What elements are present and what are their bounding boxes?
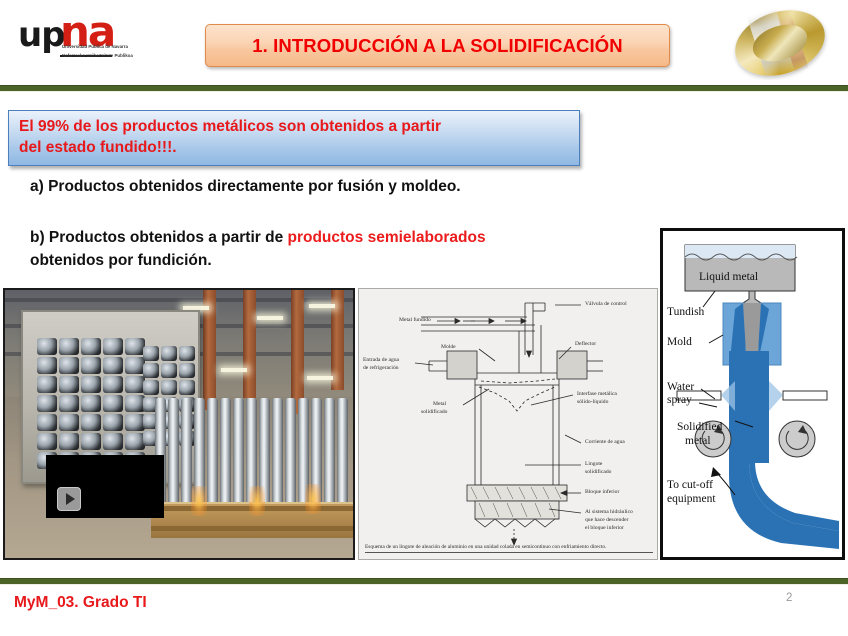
- dr-label-solidified: Solidified: [677, 421, 722, 434]
- callout-line-1: El 99% de los productos metálicos son ob…: [19, 118, 441, 135]
- dc-label-water-inlet-2: de refrigeración: [363, 365, 399, 372]
- dc-label-molten-metal: Metal fundido: [399, 317, 431, 324]
- slide-header: up na Universidad Pública de Navarra Naf…: [0, 0, 848, 86]
- footer-divider: [0, 578, 848, 585]
- highlight-callout-box: El 99% de los productos metálicos son ob…: [8, 110, 580, 166]
- dr-label-mold: Mold: [667, 336, 692, 349]
- dc-caption: Esquema de un lingote de aleación de alu…: [365, 544, 653, 553]
- dc-label-water-inlet: Entrada de agua: [363, 357, 399, 364]
- upna-logo: up na Universidad Pública de Navarra Naf…: [18, 16, 148, 74]
- dc-label-water-stream: Corriente de agua: [585, 439, 625, 446]
- photo-warm-glow: [305, 484, 321, 514]
- logo-text-up: up: [18, 18, 65, 52]
- bullet-item-b: b) Productos obtenidos a partir de produ…: [30, 226, 486, 272]
- gold-ring-photo: [722, 6, 842, 80]
- callout-text: El 99% de los productos metálicos son ob…: [19, 116, 569, 158]
- dc-caption-line2: con enfriamiento directo.: [552, 544, 606, 550]
- photo-support-column: [291, 290, 304, 414]
- dr-label-tundish: Tundish: [667, 306, 704, 319]
- photo-mould-grid-left: [37, 338, 145, 469]
- dc-label-hydraulic: Al sistema hidráulico: [585, 509, 633, 516]
- page-title: 1. INTRODUCCIÓN A LA SOLIDIFICACIÓN: [252, 35, 622, 57]
- dc-label-ingot: Lingote: [585, 461, 602, 468]
- bullet-b-text-part1: b) Productos obtenidos a partir de: [30, 229, 288, 246]
- dr-label-water: Water: [667, 381, 694, 394]
- dr-label-solidified-2: metal: [685, 435, 711, 448]
- slide-title-banner: 1. INTRODUCCIÓN A LA SOLIDIFICACIÓN: [205, 24, 670, 67]
- footer-course-label: MyM_03. Grado TI: [14, 594, 147, 612]
- dc-label-valve: Válvula de control: [585, 301, 627, 308]
- photo-support-column: [243, 290, 256, 398]
- play-triangle-glyph: [66, 493, 75, 505]
- photo-warm-glow: [249, 486, 265, 516]
- bullet-a-text: a) Productos obtenidos directamente por …: [30, 178, 461, 195]
- photo-ceiling-light: [307, 376, 333, 380]
- dr-label-liquid-metal: Liquid metal: [699, 271, 758, 284]
- page-number: 2: [786, 592, 792, 604]
- dc-label-interface: Interfase metálica: [577, 391, 617, 398]
- dc-label-ingot-2: solidificado: [585, 469, 611, 476]
- header-divider: [0, 85, 848, 92]
- play-icon[interactable]: [57, 487, 81, 511]
- dc-label-deflector: Deflector: [575, 341, 596, 348]
- dr-label-water-2: spray: [667, 394, 692, 407]
- photo-ceiling-light: [221, 368, 247, 372]
- dc-label-solid-metal-2: solidificado: [421, 409, 447, 416]
- foundry-photo: [3, 288, 355, 560]
- bullet-b-highlight: productos semielaborados: [288, 229, 486, 246]
- dc-label-solid-metal: Metal: [433, 401, 446, 408]
- dc-label-mold: Molde: [441, 344, 456, 351]
- logo-subtitle-line1: Universidad Pública de Navarra: [62, 44, 150, 50]
- dc-casting-diagram: Válvula de control Metal fundido Molde D…: [358, 288, 658, 560]
- dc-label-hydraulic-3: el bloque inferior: [585, 525, 624, 532]
- bullet-b-line2: obtenidos por fundición.: [30, 249, 486, 272]
- continuous-casting-diagram: Liquid metal Tundish Mold Water spray So…: [660, 228, 845, 560]
- dc-label-interface-2: sólido-líquido: [577, 399, 608, 406]
- photo-ceiling-light: [309, 304, 335, 308]
- dc-caption-line1: Esquema de un lingote de aleación de alu…: [365, 544, 551, 550]
- dr-label-cutoff-2: equipment: [667, 493, 716, 506]
- dc-label-hydraulic-2: que hace descender: [585, 517, 628, 524]
- logo-subtitle: Universidad Pública de Navarra Nafarroak…: [62, 44, 150, 58]
- dc-label-bottom-block: Bloque inferior: [585, 489, 619, 496]
- bullet-item-a: a) Productos obtenidos directamente por …: [30, 178, 461, 196]
- dr-label-cutoff: To cut-off: [667, 479, 713, 492]
- logo-subtitle-line2: Nafarroako Unibertsitate Publikoa: [62, 53, 150, 59]
- photo-warm-glow: [191, 486, 207, 516]
- photo-ceiling-light: [257, 316, 283, 320]
- callout-line-2: del estado fundido!!!.: [19, 137, 569, 158]
